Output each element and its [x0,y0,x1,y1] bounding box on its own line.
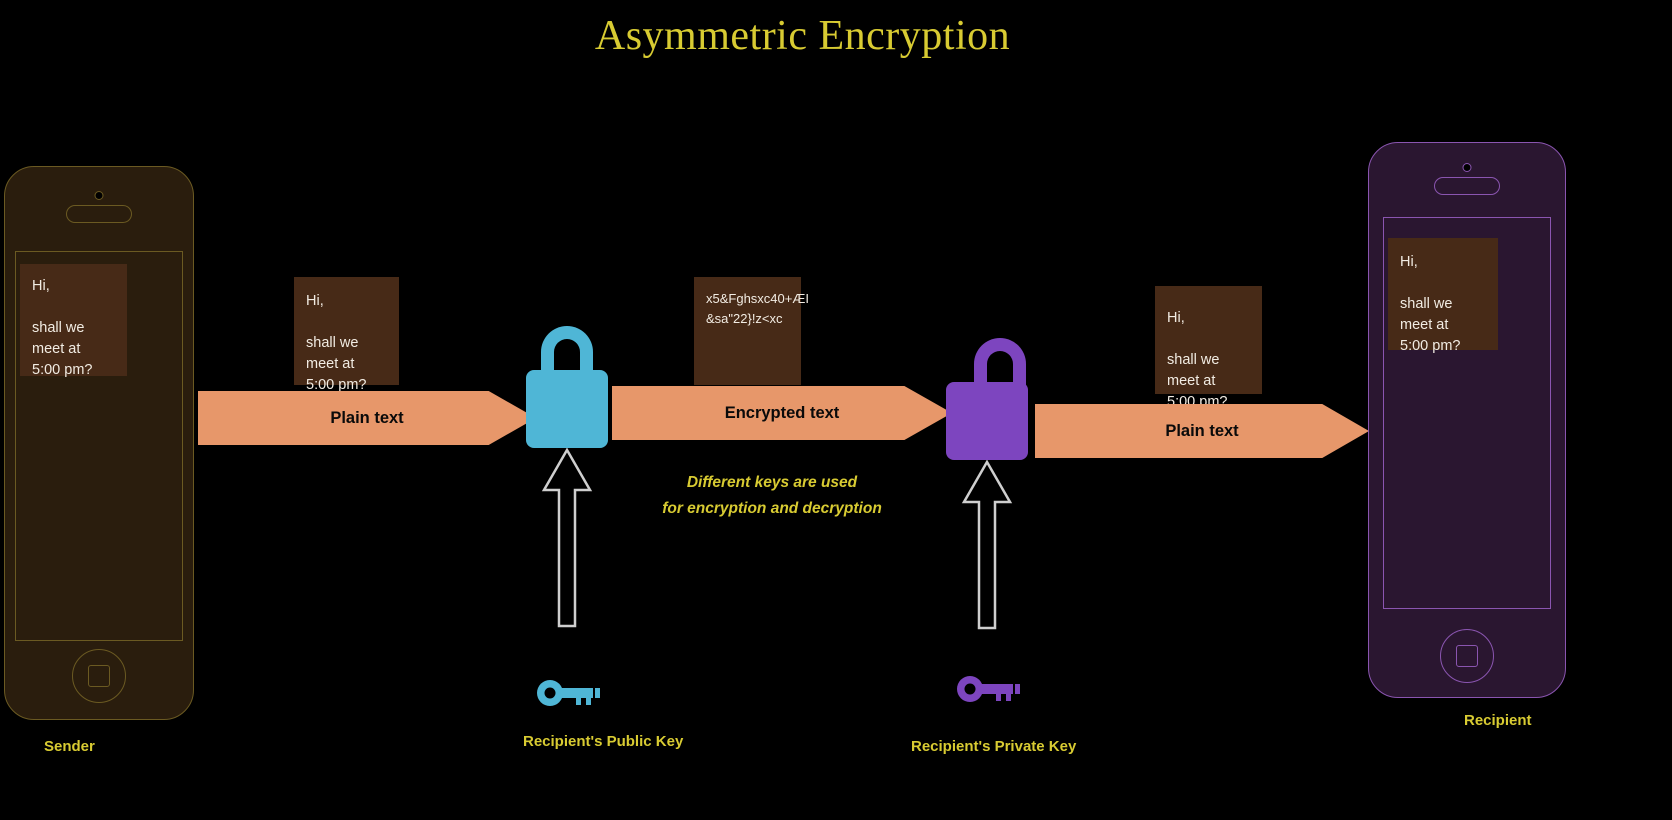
recipient-label: Recipient [1464,712,1532,729]
decrypted-text-message-box: Hi, shall we meet at 5:00 pm? [1155,286,1262,394]
private-key-label: Recipient's Private Key [911,738,1076,755]
public-key-label: Recipient's Public Key [523,733,683,750]
padlock-body [946,382,1028,460]
sender-message-bubble: Hi, shall we meet at 5:00 pm? [20,264,127,376]
page-title: Asymmetric Encryption [0,12,1605,60]
flow-arrow-label: Plain text [1165,422,1238,441]
flow-arrow-plain-text-2: Plain text [1035,404,1369,458]
home-square-icon [88,665,110,687]
sender-label: Sender [44,738,95,755]
camera-icon [1463,163,1472,172]
flow-arrow-label: Plain text [330,409,403,428]
home-square-icon [1456,645,1478,667]
public-key-usage-arrow [541,448,593,628]
encrypted-text-message-box: x5&Fghsxc40+ÆI &sa"22}!z<xc [694,277,801,385]
private-key-icon [956,668,1022,708]
speaker-grille [66,205,132,223]
diagram-canvas: Asymmetric Encryption Hi, shall we meet … [0,0,1672,820]
home-button[interactable] [1440,629,1494,683]
padlock-shackle [541,326,593,374]
camera-icon [95,191,104,200]
home-button[interactable] [72,649,126,703]
padlock-closed-public-key-icon [526,326,608,448]
recipient-phone [1368,142,1566,698]
padlock-body [526,370,608,448]
padlock-shackle [974,338,1026,386]
flow-arrow-label: Encrypted text [725,404,840,423]
different-keys-caption: Different keys are used for encryption a… [652,470,892,521]
public-key-icon [536,672,602,712]
plain-text-message-box: Hi, shall we meet at 5:00 pm? [294,277,399,385]
padlock-open-private-key-icon [946,338,1028,460]
speaker-grille [1434,177,1500,195]
flow-arrow-plain-text-1: Plain text [198,391,536,445]
caption-line-1: Different keys are used [652,470,892,496]
recipient-message-bubble: Hi, shall we meet at 5:00 pm? [1388,238,1498,350]
flow-arrow-encrypted-text: Encrypted text [612,386,952,440]
private-key-usage-arrow [961,460,1013,630]
caption-line-2: for encryption and decryption [652,496,892,522]
sender-phone [4,166,194,720]
